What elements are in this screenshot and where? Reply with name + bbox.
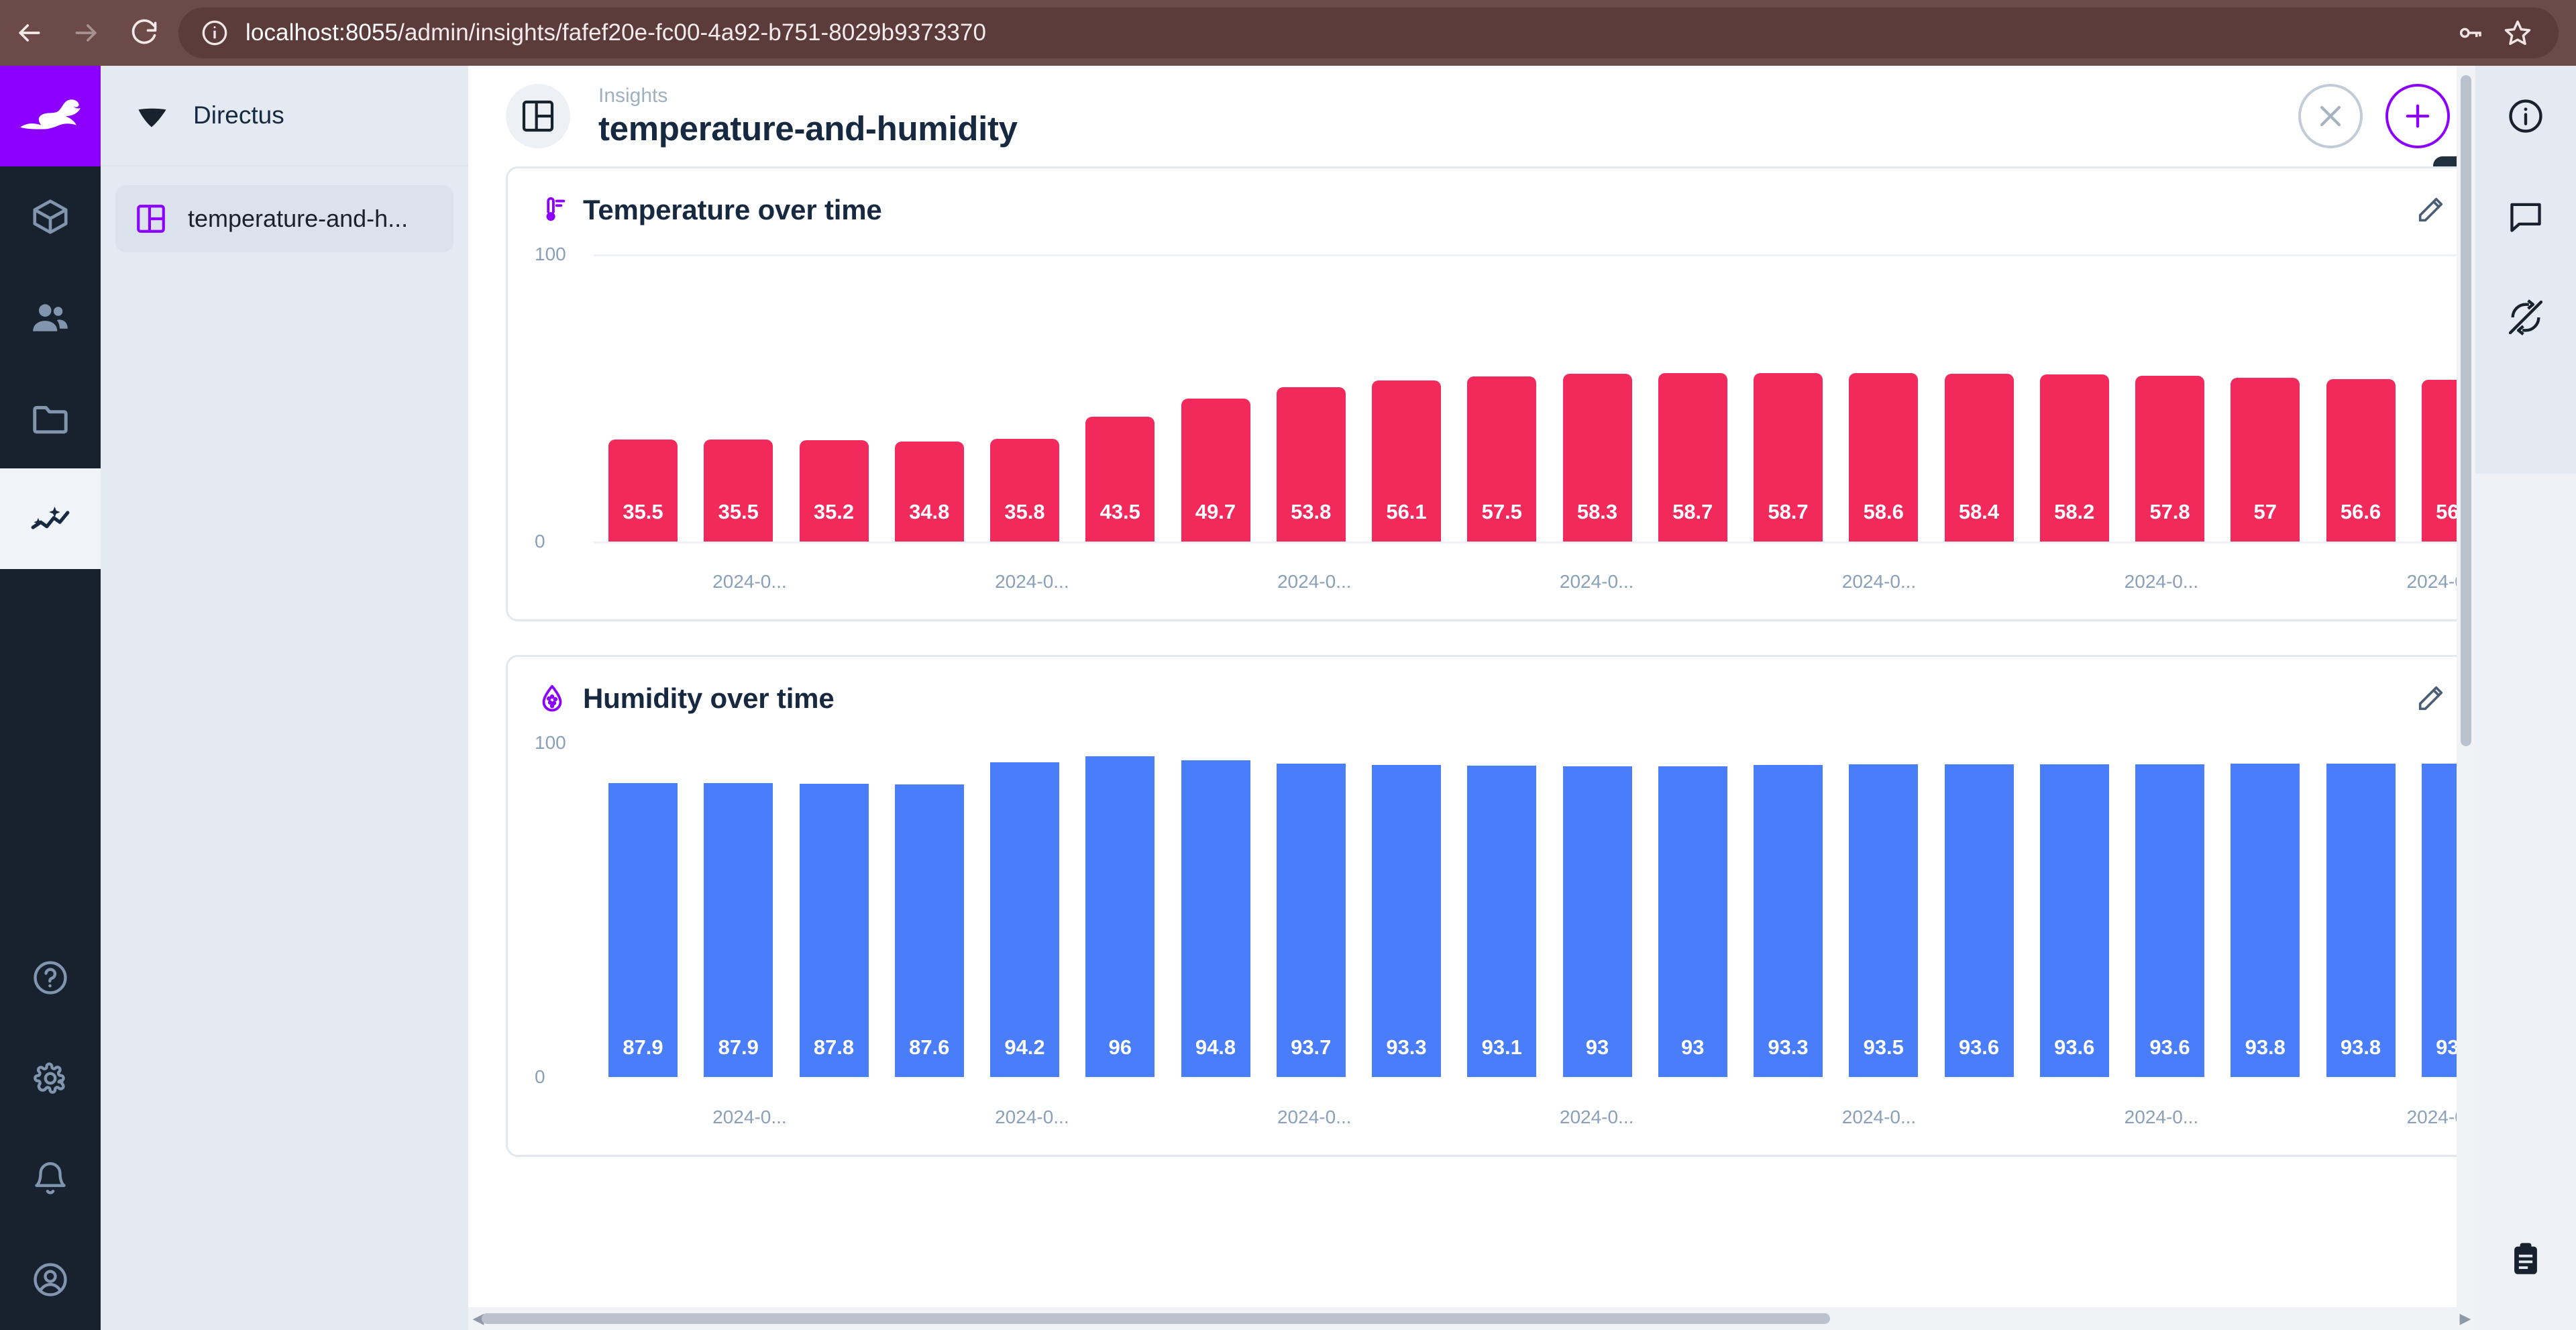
cancel-button[interactable] (2298, 84, 2363, 148)
x-axis-tick-label: 2024-0... (1560, 1107, 1634, 1128)
chart-temperature: 100 0 35.535.535.234.835.843.549.753.856… (508, 240, 2535, 619)
bar[interactable]: 87.9 (704, 783, 773, 1077)
horizontal-scrollbar-thumb[interactable] (482, 1313, 1830, 1324)
panel-header: Humidity over time (508, 657, 2535, 728)
bar-value-label: 58.7 (1768, 500, 1808, 524)
horizontal-scrollbar[interactable]: ◀ ▶ (468, 1307, 2475, 1330)
bar[interactable]: 93.6 (1945, 764, 2014, 1077)
bar[interactable]: 35.8 (990, 439, 1059, 542)
url-bar[interactable]: localhost:8055/admin/insights/fafef20e-f… (178, 7, 2559, 58)
x-axis-temperature: 2024-0...2024-0...2024-0...2024-0...2024… (608, 562, 2491, 602)
bar-value-label: 57.8 (2149, 500, 2190, 524)
bar[interactable]: 58.6 (1849, 373, 1918, 542)
plus-icon (2400, 99, 2435, 134)
page-title: temperature-and-humidity (598, 109, 2298, 149)
bar-value-label: 93.3 (1768, 1035, 1808, 1060)
bar-value-label: 87.9 (623, 1035, 663, 1060)
dashboard-icon (131, 199, 170, 238)
add-panel-button[interactable] (2385, 84, 2450, 148)
page-header: Insights temperature-and-humidity Save (468, 66, 2576, 166)
chart-plot-area: 100 0 35.535.535.234.835.843.549.753.856… (535, 246, 2508, 562)
x-axis-tick-label: 2024-0... (995, 571, 1069, 593)
bar-value-label: 93.1 (1482, 1035, 1522, 1060)
bar[interactable]: 49.7 (1181, 399, 1250, 542)
bar-value-label: 58.6 (1864, 500, 1904, 524)
bar-value-label: 94.2 (1004, 1035, 1044, 1060)
bar-value-label: 35.2 (814, 500, 854, 524)
vertical-scrollbar[interactable] (2457, 66, 2475, 1330)
bar-value-label: 56.1 (1386, 500, 1426, 524)
bar-value-label: 57 (2254, 500, 2277, 524)
nav-list: temperature-and-h... (101, 166, 468, 252)
bar[interactable]: 93.3 (1754, 765, 1823, 1077)
vertical-scrollbar-thumb[interactable] (2461, 75, 2471, 746)
bar[interactable]: 93 (1563, 766, 1632, 1077)
bar-value-label: 87.9 (718, 1035, 759, 1060)
x-axis-humidity: 2024-0...2024-0...2024-0...2024-0...2024… (608, 1097, 2491, 1137)
bar[interactable]: 87.9 (608, 783, 678, 1077)
back-arrow-icon[interactable] (0, 4, 58, 62)
bar[interactable]: 43.5 (1085, 417, 1155, 542)
bar-value-label: 93.8 (2245, 1035, 2286, 1060)
sidebar-item-label: temperature-and-h... (188, 205, 408, 233)
x-axis-tick-label: 2024-0... (2125, 571, 2199, 593)
bar[interactable]: 57 (2231, 378, 2300, 542)
bar[interactable]: 58.7 (1658, 373, 1727, 542)
bar[interactable]: 53.8 (1277, 387, 1346, 542)
x-axis-tick-label: 2024-0... (2125, 1107, 2199, 1128)
panel-title: Humidity over time (583, 682, 834, 715)
site-info-icon[interactable] (196, 14, 233, 52)
pencil-icon[interactable] (2412, 191, 2449, 229)
bar[interactable]: 93 (1658, 766, 1727, 1077)
bar[interactable]: 93.8 (2326, 764, 2396, 1077)
bar-value-label: 93.6 (2149, 1035, 2190, 1060)
nav-sidebar: Directus temperature-and-h... (101, 66, 468, 1330)
bar[interactable]: 93.1 (1467, 766, 1536, 1077)
bar[interactable]: 34.8 (895, 442, 964, 542)
bar[interactable]: 94.2 (990, 762, 1059, 1077)
bar-value-label: 56.6 (2341, 500, 2381, 524)
x-axis-tick-label: 2024-0... (1842, 1107, 1917, 1128)
bar-value-label: 35.5 (718, 500, 759, 524)
info-circle-icon[interactable] (2475, 66, 2576, 166)
bars-temperature: 35.535.535.234.835.843.549.753.856.157.5… (608, 254, 2491, 542)
bar-value-label: 34.8 (909, 500, 949, 524)
y-tick-min: 0 (535, 531, 545, 552)
right-sidebar-bottom (2475, 1209, 2576, 1310)
x-axis-tick-label: 2024-0... (1277, 1107, 1352, 1128)
bar-value-label: 93.6 (2054, 1035, 2094, 1060)
directus-rabbit-logo[interactable] (0, 66, 101, 166)
breadcrumb[interactable]: Insights (598, 83, 2298, 109)
forward-arrow-icon[interactable] (58, 4, 115, 62)
bar[interactable]: 35.5 (704, 440, 773, 542)
project-name: Directus (193, 101, 284, 130)
panel-temperature-over-time[interactable]: Temperature over time 100 0 (506, 166, 2537, 621)
bar-value-label: 43.5 (1100, 500, 1140, 524)
pencil-icon[interactable] (2412, 680, 2449, 717)
bar-value-label: 87.6 (909, 1035, 949, 1060)
bar-value-label: 93.6 (1959, 1035, 1999, 1060)
bar-value-label: 57.5 (1482, 500, 1522, 524)
bar[interactable]: 93.8 (2231, 764, 2300, 1077)
y-tick-max: 100 (535, 732, 566, 754)
thermometer-icon (535, 193, 570, 227)
chart-plot-area: 100 0 87.987.987.887.694.29694.893.793.3… (535, 735, 2508, 1097)
bar[interactable]: 56.1 (1372, 380, 1441, 542)
main-content: Insights temperature-and-humidity Save (468, 66, 2576, 1330)
x-axis-tick-label: 2024-0... (995, 1107, 1069, 1128)
bar[interactable]: 58.4 (1945, 374, 2014, 542)
bar[interactable]: 87.8 (800, 784, 869, 1077)
x-axis-tick-label: 2024-0... (712, 571, 787, 593)
bar[interactable]: 57.8 (2135, 376, 2204, 542)
bar-value-label: 58.7 (1672, 500, 1713, 524)
bar[interactable]: 93.7 (1277, 764, 1346, 1077)
bar-value-label: 94.8 (1195, 1035, 1236, 1060)
module-bar (0, 66, 101, 1330)
scroll-right-arrow-icon[interactable]: ▶ (2457, 1310, 2474, 1327)
bar[interactable]: 87.6 (895, 784, 964, 1077)
y-tick-max: 100 (535, 244, 566, 265)
module-item-settings[interactable] (0, 1028, 101, 1129)
directus-app: Directus temperature-and-h... Insights t… (0, 66, 2576, 1330)
right-sidebar (2475, 66, 2576, 1330)
module-item-files[interactable] (0, 368, 101, 468)
bar-value-label: 58.3 (1577, 500, 1617, 524)
bar-value-label: 93.5 (1864, 1035, 1904, 1060)
bar-value-label: 96 (1109, 1035, 1132, 1060)
bar[interactable]: 94.8 (1181, 760, 1250, 1077)
bar-value-label: 58.4 (1959, 500, 1999, 524)
bar-value-label: 93 (1586, 1035, 1609, 1060)
header-titles: Insights temperature-and-humidity (598, 83, 2298, 149)
reload-icon[interactable] (115, 4, 173, 62)
url-host: localhost:8055 (246, 19, 398, 46)
module-item-help[interactable] (0, 927, 101, 1028)
url-path: /admin/insights/fafef20e-fc00-4a92-b751-… (398, 19, 986, 46)
password-key-icon[interactable] (2447, 9, 2494, 56)
dashboard-icon (506, 84, 570, 148)
bars-humidity: 87.987.987.887.694.29694.893.793.393.193… (608, 743, 2491, 1077)
bar-value-label: 35.5 (623, 500, 663, 524)
module-item-notifications[interactable] (0, 1129, 101, 1229)
panels-container: Temperature over time 100 0 (468, 166, 2576, 1157)
bar[interactable]: 93.3 (1372, 765, 1441, 1077)
bar-value-label: 93.8 (2341, 1035, 2381, 1060)
bar[interactable]: 93.5 (1849, 764, 1918, 1077)
bar-value-label: 87.8 (814, 1035, 854, 1060)
bar-value-label: 53.8 (1291, 500, 1331, 524)
bar[interactable]: 57.5 (1467, 376, 1536, 542)
sidebar-item-temperature-and-humidity[interactable]: temperature-and-h... (115, 185, 453, 252)
module-item-content[interactable] (0, 166, 101, 267)
right-sidebar-divider (2475, 474, 2576, 1330)
bar-value-label: 93 (1681, 1035, 1704, 1060)
browser-chrome: localhost:8055/admin/insights/fafef20e-f… (0, 0, 2576, 66)
bar[interactable]: 58.3 (1563, 374, 1632, 542)
bar-value-label: 35.8 (1004, 500, 1044, 524)
water-drop-icon (535, 681, 570, 716)
bar[interactable]: 96 (1085, 756, 1155, 1077)
bar[interactable]: 93.6 (2135, 764, 2204, 1077)
bar[interactable]: 58.7 (1754, 373, 1823, 542)
bar[interactable]: 58.2 (2040, 374, 2109, 542)
gridline-baseline (594, 542, 2491, 544)
project-header: Directus (101, 66, 468, 166)
x-axis-tick-label: 2024-0... (712, 1107, 787, 1128)
panel-title: Temperature over time (583, 194, 882, 226)
bar[interactable]: 93.6 (2040, 764, 2109, 1077)
chart-humidity: 100 0 87.987.987.887.694.29694.893.793.3… (508, 728, 2535, 1155)
bar-value-label: 58.2 (2054, 500, 2094, 524)
directus-mark-icon (131, 95, 173, 136)
bar[interactable]: 35.2 (800, 440, 869, 542)
bar-value-label: 49.7 (1195, 500, 1236, 524)
module-bar-bottom (0, 927, 101, 1330)
y-tick-min: 0 (535, 1066, 545, 1088)
comment-icon[interactable] (2475, 166, 2576, 267)
clipboard-icon[interactable] (2475, 1209, 2576, 1310)
x-axis-tick-label: 2024-0... (1842, 571, 1917, 593)
bar[interactable]: 35.5 (608, 440, 678, 542)
bar-value-label: 93.3 (1386, 1035, 1426, 1060)
bookmark-star-icon[interactable] (2494, 9, 2541, 56)
x-axis-tick-label: 2024-0... (1560, 571, 1634, 593)
bar[interactable]: 56.6 (2326, 379, 2396, 542)
x-axis-tick-label: 2024-0... (1277, 571, 1352, 593)
panel-humidity-over-time[interactable]: Humidity over time 100 0 87.987 (506, 655, 2537, 1157)
close-x-icon (2313, 99, 2348, 134)
module-item-users[interactable] (0, 267, 101, 368)
panel-header: Temperature over time (508, 168, 2535, 240)
module-item-account[interactable] (0, 1229, 101, 1330)
sync-disabled-icon[interactable] (2475, 267, 2576, 368)
module-item-insights[interactable] (0, 468, 101, 569)
bar-value-label: 93.7 (1291, 1035, 1331, 1060)
